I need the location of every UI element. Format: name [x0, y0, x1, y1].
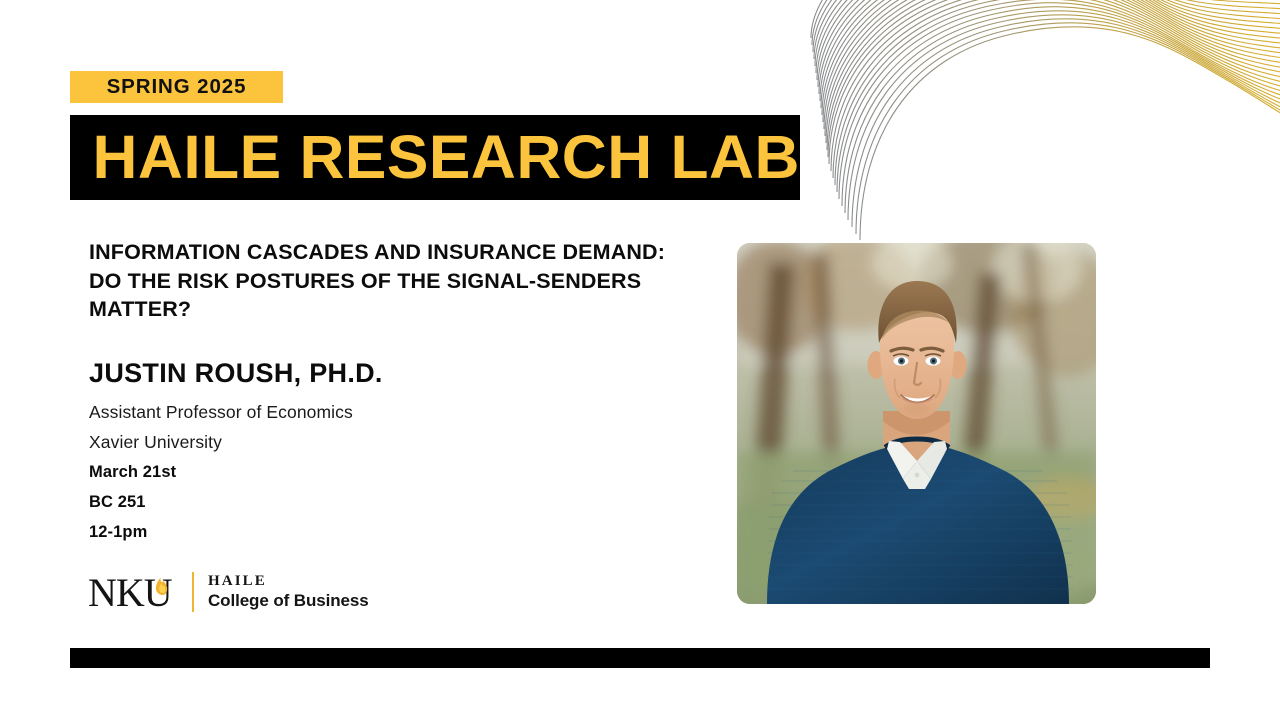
- logo-divider: [192, 572, 194, 612]
- speaker-position: Assistant Professor of Economics: [89, 397, 649, 427]
- event-date: March 21st: [89, 457, 649, 487]
- event-location: BC 251: [89, 487, 649, 517]
- nku-wordmark: NKU: [88, 570, 180, 614]
- college-line-haile: HAILE: [208, 572, 369, 591]
- event-time: 12-1pm: [89, 517, 649, 547]
- wave-lines-decoration: [800, 0, 1280, 248]
- poster-canvas: SPRING 2025 HAILE RESEARCH LAB INFORMATI…: [0, 0, 1280, 720]
- speaker-name: JUSTIN ROUSH, PH.D.: [89, 358, 649, 390]
- talk-title: INFORMATION CASCADES AND INSURANCE DEMAN…: [89, 238, 689, 324]
- speaker-photo: [737, 243, 1096, 604]
- term-badge: SPRING 2025: [70, 71, 283, 103]
- term-badge-label: SPRING 2025: [107, 77, 247, 98]
- speaker-details: JUSTIN ROUSH, PH.D. Assistant Professor …: [89, 358, 649, 547]
- series-title-text: HAILE RESEARCH LAB: [70, 127, 800, 188]
- college-lockup-text: HAILE College of Business: [208, 572, 369, 613]
- college-line-business: College of Business: [208, 590, 369, 612]
- nku-haile-logo: NKU HAILE College of Business: [88, 566, 369, 618]
- speaker-affiliation: Xavier University: [89, 427, 649, 457]
- series-title-banner: HAILE RESEARCH LAB: [70, 115, 800, 200]
- footer-bar: [70, 648, 1210, 668]
